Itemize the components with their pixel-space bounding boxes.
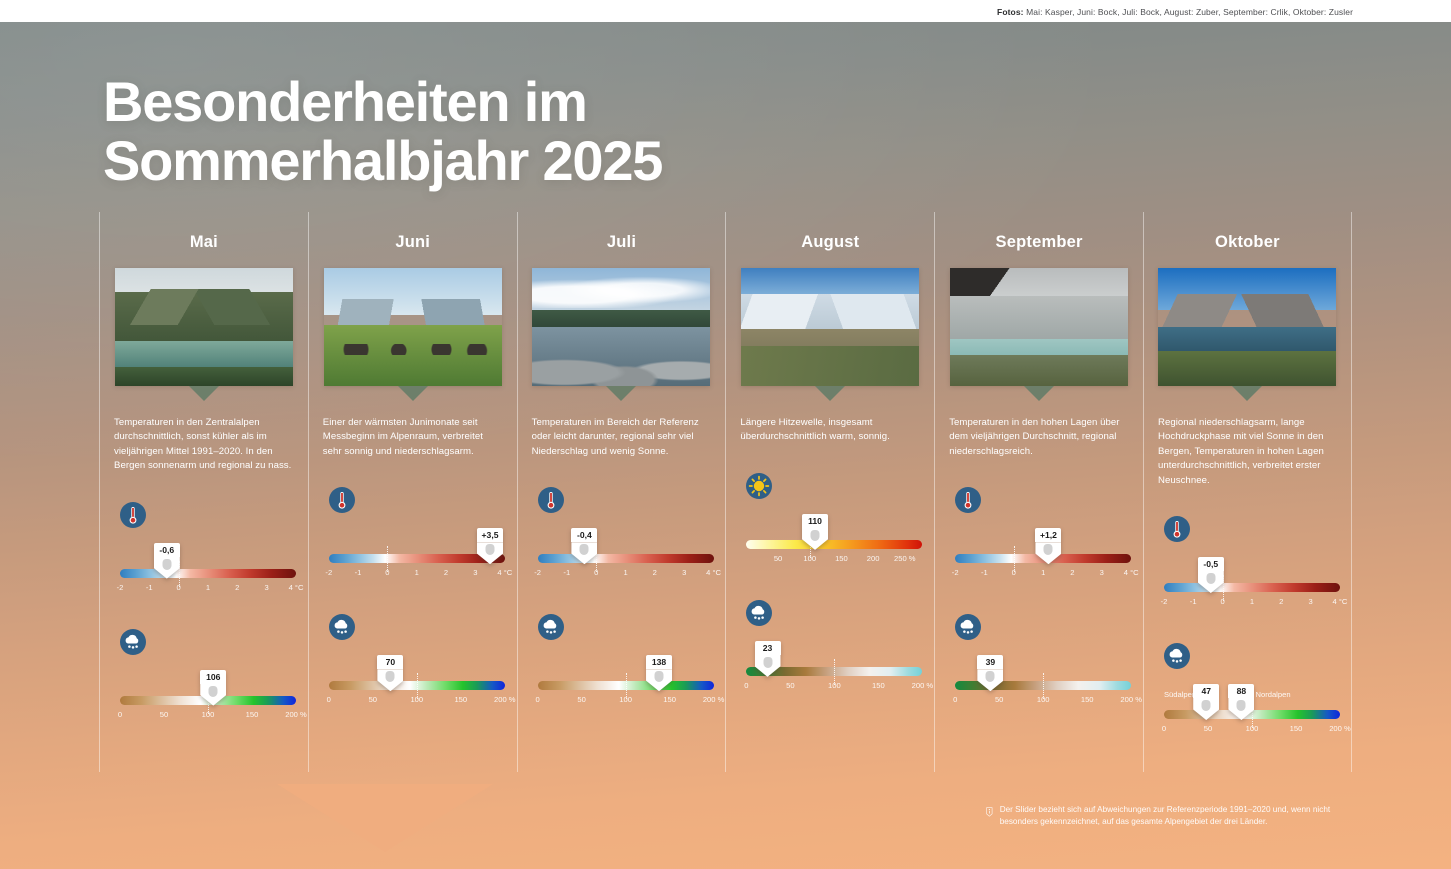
- marker-value: 39: [977, 655, 1003, 669]
- marker-value: 138: [646, 655, 672, 669]
- tick-label: 150: [454, 695, 467, 704]
- tick-label: 200 %: [703, 695, 725, 704]
- value-marker[interactable]: -0,6: [154, 543, 180, 579]
- month-description: Temperaturen in den hohen Lagen über dem…: [949, 416, 1129, 459]
- icon-row-bottom: [120, 629, 308, 660]
- tick-label: -1: [981, 568, 988, 577]
- tick-labels: 050100150200 %: [746, 681, 922, 695]
- tick-label: -2: [534, 568, 541, 577]
- icon-row-bottom: [1164, 643, 1351, 674]
- tick-label: 200 %: [1120, 695, 1142, 704]
- scale-top: 110 50100150200250 %: [746, 518, 922, 578]
- tick-label: 3: [682, 568, 686, 577]
- tick-label: 1: [1250, 597, 1254, 606]
- month-title: Juli: [518, 233, 726, 252]
- tick-label: -1: [563, 568, 570, 577]
- tick-label: 150: [246, 710, 259, 719]
- tick-labels: 050100150200 %: [538, 695, 714, 709]
- marker-stem: [977, 669, 1003, 691]
- mai-photo-bergsee: [115, 268, 293, 386]
- tick-label: 3: [264, 583, 268, 592]
- tick-label: 2: [235, 583, 239, 592]
- photo-wrap: [1158, 268, 1336, 386]
- region-label-left: Südalpen: [1164, 690, 1196, 699]
- tick-labels: 050100150200 %: [955, 695, 1131, 709]
- scale-bottom: 106 050100150200 %: [120, 674, 296, 734]
- scale-top: +1,2 -2-101234 °C: [955, 532, 1131, 592]
- footnote: Der Slider bezieht sich auf Abweichungen…: [986, 804, 1366, 827]
- info-icon: [986, 804, 993, 820]
- tick-label: 1: [1041, 568, 1045, 577]
- tick-label: 4 °C: [1333, 597, 1348, 606]
- month-column-oktober: Oktober Regional niederschlagsarm, lange…: [1143, 212, 1352, 772]
- rain-cloud-icon: [955, 614, 981, 640]
- photo-wrap: [532, 268, 710, 386]
- rain-cloud-icon: [1164, 643, 1190, 669]
- tick-labels: 50100150200250 %: [746, 554, 922, 568]
- marker-stem: [200, 684, 226, 706]
- tick-label: 100: [803, 554, 816, 563]
- tick-label: 100: [828, 681, 841, 690]
- marker-stem: [1035, 542, 1061, 564]
- tick-label: 50: [774, 554, 782, 563]
- oktober-photo-bergsee: [1158, 268, 1336, 386]
- tick-label: 200 %: [285, 710, 307, 719]
- tick-label: -1: [1190, 597, 1197, 606]
- title-line-2: Sommerhalbjahr 2025: [103, 131, 883, 190]
- tick-labels: 050100150200 %: [1164, 724, 1340, 738]
- value-marker[interactable]: 106: [200, 670, 226, 706]
- tick-labels: -2-101234 °C: [329, 568, 505, 582]
- juni-photo-almweide: [324, 268, 502, 386]
- september-photo-gletschersee: [950, 268, 1128, 386]
- tick-labels: -2-101234 °C: [1164, 597, 1340, 611]
- tick-label: 2: [1070, 568, 1074, 577]
- photo-pointer: [1232, 386, 1262, 401]
- tick-label: 200 %: [494, 695, 516, 704]
- tick-label: 4 °C: [497, 568, 512, 577]
- value-marker[interactable]: 70: [377, 655, 403, 691]
- tick-label: 100: [410, 695, 423, 704]
- tick-label: 50: [995, 695, 1003, 704]
- value-marker-secondary[interactable]: 88: [1228, 684, 1254, 720]
- tick-label: 4 °C: [289, 583, 304, 592]
- marker-value: -0,6: [154, 543, 180, 557]
- photo-credit-names: Mai: Kasper, Juni: Bock, Juli: Bock, Aug…: [1024, 7, 1353, 17]
- marker-stem: [755, 655, 781, 677]
- scale-bottom: SüdalpenNordalpen 47 88 050100150200 %: [1164, 688, 1340, 748]
- icon-row-top: [120, 502, 308, 533]
- tick-label: 0: [1220, 597, 1224, 606]
- tick-label: 150: [663, 695, 676, 704]
- tick-label: 200 %: [1329, 724, 1351, 733]
- month-column-juni: Juni Einer der wärmsten Junimonate seit …: [308, 212, 517, 772]
- icon-row-bottom: [329, 614, 517, 645]
- month-description: Temperaturen im Bereich der Referenz ode…: [532, 416, 712, 459]
- tick-labels: -2-101234 °C: [120, 583, 296, 597]
- tick-label: 100: [202, 710, 215, 719]
- scale-bottom: 138 050100150200 %: [538, 659, 714, 719]
- month-column-mai: Mai Temperaturen in den Zentralalpen dur…: [99, 212, 308, 772]
- rain-cloud-icon: [746, 600, 772, 626]
- photo-pointer: [398, 386, 428, 401]
- tick-label: 50: [786, 681, 794, 690]
- tick-label: 0: [327, 695, 331, 704]
- scale-bar[interactable]: [1164, 583, 1340, 592]
- tick-label: 0: [594, 568, 598, 577]
- icon-row-top: [538, 487, 726, 518]
- marker-value: 110: [802, 514, 828, 528]
- scale-top: -0,5 -2-101234 °C: [1164, 561, 1340, 621]
- photo-credit-text: Fotos: Mai: Kasper, Juni: Bock, Juli: Bo…: [997, 7, 1353, 17]
- tick-label: 1: [623, 568, 627, 577]
- tick-label: 1: [206, 583, 210, 592]
- photo-pointer: [1024, 386, 1054, 401]
- icon-row-bottom: [538, 614, 726, 645]
- tick-label: 0: [953, 695, 957, 704]
- value-marker[interactable]: 110: [802, 514, 828, 550]
- tick-label: 150: [1290, 724, 1303, 733]
- marker-value: 106: [200, 670, 226, 684]
- tick-label: 100: [1246, 724, 1259, 733]
- scale-bar[interactable]: [746, 540, 922, 549]
- thermometer-icon: [120, 502, 146, 528]
- tick-label: 0: [1012, 568, 1016, 577]
- tick-label: 0: [118, 710, 122, 719]
- sun-icon: [746, 473, 772, 499]
- scale-bar[interactable]: [538, 554, 714, 563]
- tick-label: 0: [744, 681, 748, 690]
- value-marker[interactable]: +3,5: [477, 528, 503, 564]
- marker-value: 88: [1228, 684, 1254, 698]
- month-title: Juni: [309, 233, 517, 252]
- value-marker[interactable]: 47: [1193, 684, 1219, 720]
- marker-stem: [571, 542, 597, 564]
- thermometer-icon: [1164, 516, 1190, 542]
- scale-bottom: 70 050100150200 %: [329, 659, 505, 719]
- month-column-august: August Längere Hitzewelle, insgesamt übe…: [725, 212, 934, 772]
- rain-cloud-icon: [120, 629, 146, 655]
- tick-label: 250 %: [894, 554, 916, 563]
- scale-top: -0,6 -2-101234 °C: [120, 547, 296, 607]
- tick-label: 4 °C: [1124, 568, 1139, 577]
- tick-label: -2: [1161, 597, 1168, 606]
- tick-labels: -2-101234 °C: [955, 568, 1131, 582]
- tick-label: 3: [473, 568, 477, 577]
- month-columns: Mai Temperaturen in den Zentralalpen dur…: [99, 212, 1352, 772]
- tick-label: 3: [1100, 568, 1104, 577]
- tick-label: -2: [952, 568, 959, 577]
- icon-row-bottom: [955, 614, 1143, 645]
- august-photo-gletschertal: [741, 268, 919, 386]
- month-description: Temperaturen in den Zentralalpen durchsc…: [114, 416, 294, 474]
- photo-credit-prefix: Fotos:: [997, 7, 1024, 17]
- month-column-juli: Juli Temperaturen im Bereich der Referen…: [517, 212, 726, 772]
- thermometer-icon: [538, 487, 564, 513]
- tick-labels: 050100150200 %: [120, 710, 296, 724]
- poster-canvas: Besonderheiten im Sommerhalbjahr 2025 Ma…: [0, 22, 1451, 869]
- tick-label: 0: [1162, 724, 1166, 733]
- month-description: Regional niederschlagsarm, lange Hochdru…: [1158, 416, 1337, 488]
- tick-label: 0: [176, 583, 180, 592]
- marker-stem: [1198, 571, 1224, 593]
- marker-stem: [477, 542, 503, 564]
- photo-wrap: [741, 268, 919, 386]
- tick-label: 2: [653, 568, 657, 577]
- month-title: Mai: [100, 233, 308, 252]
- footnote-text: Der Slider bezieht sich auf Abweichungen…: [1000, 804, 1366, 827]
- photo-pointer: [606, 386, 636, 401]
- tick-label: 150: [1081, 695, 1094, 704]
- marker-stem: [802, 528, 828, 550]
- icon-row-top: [955, 487, 1143, 518]
- tick-label: 0: [385, 568, 389, 577]
- photo-wrap: [950, 268, 1128, 386]
- tick-label: 1: [415, 568, 419, 577]
- rain-cloud-icon: [538, 614, 564, 640]
- icon-row-top: [329, 487, 517, 518]
- tick-label: -2: [117, 583, 124, 592]
- marker-value: 70: [377, 655, 403, 669]
- tick-label: 150: [872, 681, 885, 690]
- tick-label: 0: [535, 695, 539, 704]
- month-column-september: September Temperaturen in den hohen Lage…: [934, 212, 1143, 772]
- page-title: Besonderheiten im Sommerhalbjahr 2025: [103, 72, 883, 190]
- marker-stem: [1193, 698, 1219, 720]
- tick-label: 50: [160, 710, 168, 719]
- icon-row-bottom: [746, 600, 934, 631]
- thermometer-icon: [329, 487, 355, 513]
- tick-label: 100: [1037, 695, 1050, 704]
- scale-top: -0,4 -2-101234 °C: [538, 532, 714, 592]
- month-description: Längere Hitzewelle, insgesamt überdurchs…: [740, 416, 920, 445]
- tick-label: 150: [835, 554, 848, 563]
- bottom-arrow-shape: [277, 784, 493, 852]
- marker-value: -0,5: [1198, 557, 1224, 571]
- marker-value: 47: [1193, 684, 1219, 698]
- tick-label: -1: [355, 568, 362, 577]
- tick-label: 3: [1308, 597, 1312, 606]
- scale-top: +3,5 -2-101234 °C: [329, 532, 505, 592]
- scale-bottom: 23 050100150200 %: [746, 645, 922, 705]
- month-title: August: [726, 233, 934, 252]
- scale-bar[interactable]: [120, 569, 296, 578]
- month-title: September: [935, 233, 1143, 252]
- tick-label: 2: [444, 568, 448, 577]
- photo-credit-bar: Fotos: Mai: Kasper, Juni: Bock, Juli: Bo…: [0, 0, 1451, 22]
- region-label-right: Nordalpen: [1256, 690, 1291, 699]
- photo-pointer: [815, 386, 845, 401]
- tick-label: 2: [1279, 597, 1283, 606]
- icon-row-top: [746, 473, 934, 504]
- marker-stem: [646, 669, 672, 691]
- thermometer-icon: [955, 487, 981, 513]
- marker-value: -0,4: [571, 528, 597, 542]
- tick-label: 200 %: [912, 681, 934, 690]
- marker-stem: [1228, 698, 1254, 720]
- photo-pointer: [189, 386, 219, 401]
- tick-labels: -2-101234 °C: [538, 568, 714, 582]
- month-title: Oktober: [1144, 233, 1351, 252]
- marker-stem: [154, 557, 180, 579]
- tick-label: 50: [577, 695, 585, 704]
- rain-cloud-icon: [329, 614, 355, 640]
- photo-wrap: [115, 268, 293, 386]
- marker-value: +1,2: [1035, 528, 1061, 542]
- title-line-1: Besonderheiten im: [103, 72, 883, 131]
- month-description: Einer der wärmsten Junimonate seit Messb…: [323, 416, 503, 459]
- value-marker[interactable]: 39: [977, 655, 1003, 691]
- marker-value: +3,5: [477, 528, 503, 542]
- marker-value: 23: [755, 641, 781, 655]
- value-marker[interactable]: -0,5: [1198, 557, 1224, 593]
- juli-photo-seeufer: [532, 268, 710, 386]
- tick-label: -2: [325, 568, 332, 577]
- icon-row-top: [1164, 516, 1351, 547]
- tick-label: -1: [146, 583, 153, 592]
- tick-label: 50: [1204, 724, 1212, 733]
- tick-label: 4 °C: [706, 568, 721, 577]
- value-marker[interactable]: 23: [755, 641, 781, 677]
- tick-labels: 050100150200 %: [329, 695, 505, 709]
- value-marker[interactable]: -0,4: [571, 528, 597, 564]
- tick-label: 200: [867, 554, 880, 563]
- tick-label: 100: [619, 695, 632, 704]
- value-marker[interactable]: +1,2: [1035, 528, 1061, 564]
- value-marker[interactable]: 138: [646, 655, 672, 691]
- tick-label: 50: [369, 695, 377, 704]
- photo-wrap: [324, 268, 502, 386]
- marker-stem: [377, 669, 403, 691]
- scale-bottom: 39 050100150200 %: [955, 659, 1131, 719]
